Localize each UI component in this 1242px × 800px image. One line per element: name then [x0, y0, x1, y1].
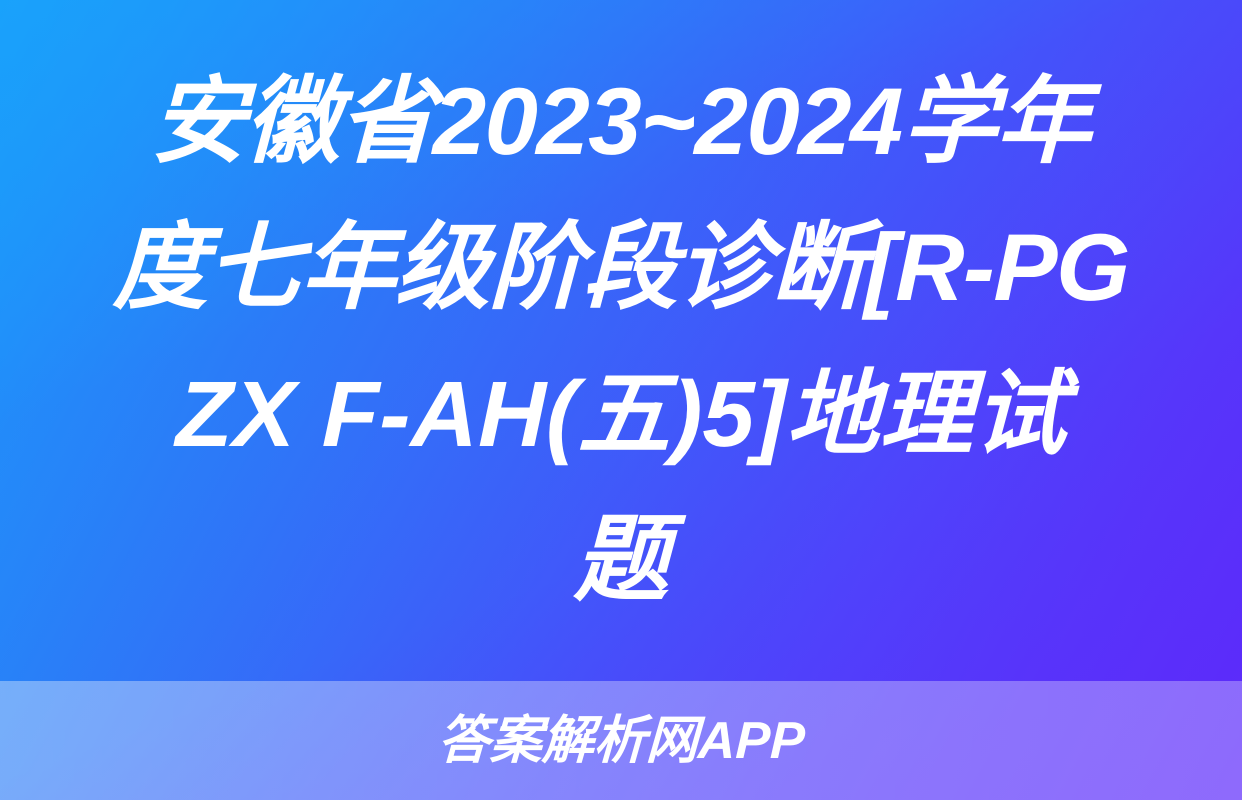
title-line-2: 度七年级阶段诊断[R-PG: [112, 195, 1131, 341]
title-line-1: 安徽省2023~2024学年: [150, 49, 1092, 195]
brand-footer-band: 答案解析网APP: [0, 681, 1242, 800]
exam-cover-card: 安徽省2023~2024学年 度七年级阶段诊断[R-PG ZX F-AH(五)5…: [0, 0, 1242, 800]
title-line-4: 题: [573, 487, 670, 633]
title-line-3: ZX F-AH(五)5]地理试: [174, 341, 1067, 487]
brand-watermark: 答案解析网APP: [437, 715, 806, 767]
page-title: 安徽省2023~2024学年 度七年级阶段诊断[R-PG ZX F-AH(五)5…: [0, 0, 1242, 681]
